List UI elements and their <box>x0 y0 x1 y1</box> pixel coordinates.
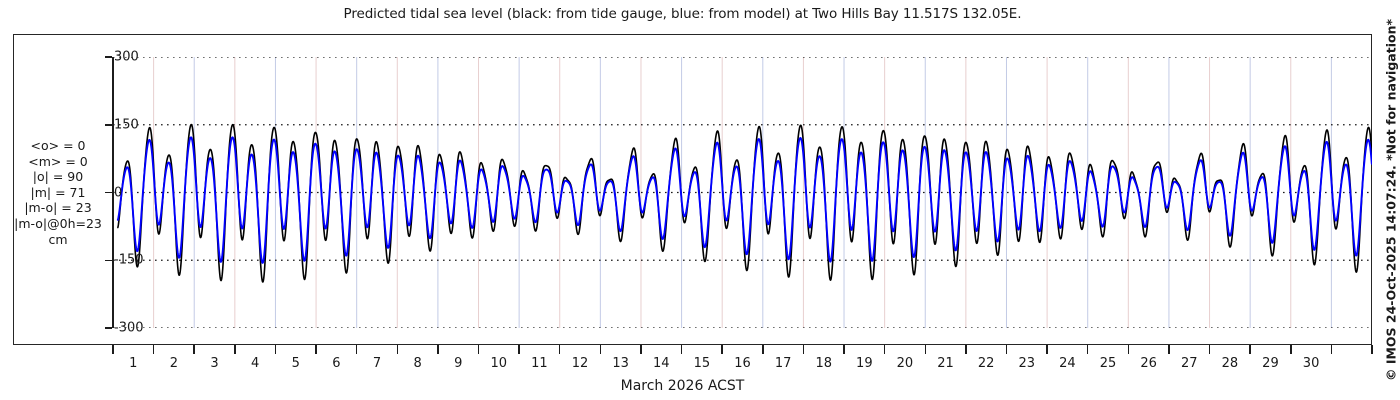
x-axis-tick-label: 14 <box>653 356 670 371</box>
x-axis-tick-label: 6 <box>332 356 340 371</box>
x-axis-tick <box>600 345 602 354</box>
x-axis-tick <box>843 345 845 354</box>
x-axis-tick <box>437 345 439 354</box>
x-axis-tick <box>518 345 520 354</box>
x-axis-tick-label: 3 <box>210 356 218 371</box>
x-axis-tick-label: 29 <box>1262 356 1279 371</box>
x-axis-tick-label: 30 <box>1303 356 1320 371</box>
y-axis-tick-label: 300 <box>114 50 139 65</box>
x-axis-tick <box>559 345 561 354</box>
x-axis-tick-label: 12 <box>572 356 589 371</box>
chart-root: Predicted tidal sea level (black: from t… <box>0 0 1400 400</box>
x-axis-tick-label: 20 <box>897 356 914 371</box>
x-axis-tick-label: 26 <box>1140 356 1157 371</box>
x-axis-tick <box>681 345 683 354</box>
copyright-credit: © IMOS 24-Oct-2025 14:07:24. *Not for na… <box>1380 0 1400 400</box>
x-axis-tick-label: 10 <box>491 356 508 371</box>
statistics-line: |o| = 90 <box>6 169 110 185</box>
y-axis-tick <box>105 124 112 126</box>
x-axis-tick-label: 24 <box>1059 356 1076 371</box>
y-axis-tick <box>105 327 112 329</box>
x-axis-tick-label: 18 <box>815 356 832 371</box>
x-axis-tick-label: 19 <box>856 356 873 371</box>
x-axis-tick <box>1209 345 1211 354</box>
x-axis-tick-label: 9 <box>454 356 462 371</box>
x-axis-tick-label: 23 <box>1019 356 1036 371</box>
x-axis-tick-label: 21 <box>937 356 954 371</box>
x-axis-tick <box>478 345 480 354</box>
y-axis-tick <box>105 260 112 262</box>
x-axis-tick <box>356 345 358 354</box>
x-axis-tick-label: 22 <box>978 356 995 371</box>
statistics-line: cm <box>6 232 110 248</box>
statistics-line: <m> = 0 <box>6 154 110 170</box>
x-axis-tick <box>112 345 114 354</box>
x-axis-tick <box>1290 345 1292 354</box>
page-title: Predicted tidal sea level (black: from t… <box>0 6 1365 22</box>
x-axis-tick <box>965 345 967 354</box>
x-axis-tick-label: 5 <box>292 356 300 371</box>
statistics-line: |m-o| = 23 <box>6 200 110 216</box>
x-axis-tick <box>1371 345 1373 354</box>
x-axis-tick-label: 1 <box>129 356 137 371</box>
statistics-line: |m| = 71 <box>6 185 110 201</box>
x-axis-tick-label: 25 <box>1100 356 1117 371</box>
x-axis-tick <box>640 345 642 354</box>
statistics-line: <o> = 0 <box>6 138 110 154</box>
x-axis-tick <box>275 345 277 354</box>
x-axis-title: March 2026 ACST <box>0 378 1365 394</box>
x-axis-tick-label: 2 <box>170 356 178 371</box>
x-axis-tick <box>397 345 399 354</box>
x-axis-tick <box>1046 345 1048 354</box>
x-axis-tick <box>1006 345 1008 354</box>
statistics-annotation: <o> = 0<m> = 0|o| = 90|m| = 71|m-o| = 23… <box>6 138 110 247</box>
horizontal-gridlines <box>113 57 1372 328</box>
statistics-line: |m-o|@0h=23 <box>6 216 110 232</box>
x-axis-tick-label: 11 <box>531 356 548 371</box>
x-axis-tick-label: 7 <box>373 356 381 371</box>
x-axis-tick <box>762 345 764 354</box>
x-axis-tick <box>234 345 236 354</box>
y-axis-tick-label: 150 <box>114 117 139 132</box>
y-axis-tick-label: 0 <box>114 185 122 200</box>
y-axis-tick-label: -150 <box>114 253 144 268</box>
copyright-text: © IMOS 24-Oct-2025 14:07:24. *Not for na… <box>1384 19 1399 381</box>
x-axis-tick-label: 28 <box>1222 356 1239 371</box>
plot-area <box>113 57 1372 328</box>
x-axis-tick <box>1331 345 1333 354</box>
x-axis-tick <box>884 345 886 354</box>
x-axis-tick <box>925 345 927 354</box>
x-axis-tick <box>721 345 723 354</box>
tide-series-svg <box>113 57 1372 328</box>
x-axis-tick-label: 8 <box>413 356 421 371</box>
x-axis-tick-label: 15 <box>694 356 711 371</box>
x-axis-tick-label: 13 <box>612 356 629 371</box>
x-axis-tick <box>315 345 317 354</box>
y-axis-tick-label: -300 <box>114 321 144 336</box>
x-axis-tick <box>1128 345 1130 354</box>
y-axis-tick <box>105 56 112 58</box>
x-axis-tick-label: 16 <box>734 356 751 371</box>
x-axis-tick <box>1168 345 1170 354</box>
x-axis-tick <box>153 345 155 354</box>
x-axis-tick-label: 27 <box>1181 356 1198 371</box>
x-axis-tick-label: 17 <box>775 356 792 371</box>
x-axis-tick <box>1087 345 1089 354</box>
x-axis-tick-label: 4 <box>251 356 259 371</box>
x-axis-tick <box>193 345 195 354</box>
series-line-model <box>118 137 1372 263</box>
x-axis-tick <box>1249 345 1251 354</box>
x-axis-tick <box>803 345 805 354</box>
